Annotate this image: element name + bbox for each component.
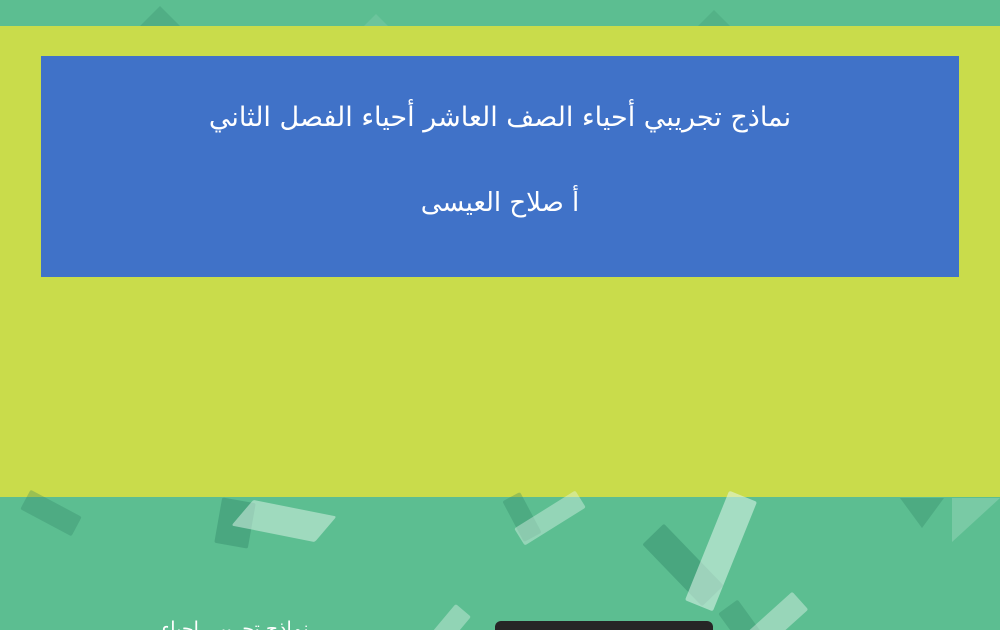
cutoff-caption-label: نماذج تجريبي أحياء xyxy=(161,620,308,630)
slide-subtitle-author: أ صلاح العيسى xyxy=(421,187,580,221)
cutoff-caption-text: نماذج تجريبي أحياء xyxy=(0,620,470,630)
slide-content-area: نماذج تجريبي أحياء الصف العاشر أحياء الف… xyxy=(0,26,1000,497)
slide-screenshot: نماذج تجريبي أحياء الصف العاشر أحياء الف… xyxy=(0,0,1000,630)
bottom-green-band xyxy=(0,497,1000,630)
top-green-band xyxy=(0,0,1000,26)
slide-title: نماذج تجريبي أحياء الصف العاشر أحياء الف… xyxy=(209,100,791,135)
triangle-decoration-icon xyxy=(356,14,396,26)
video-player-control-bar[interactable] xyxy=(495,621,713,630)
triangle-decoration-icon xyxy=(688,10,740,26)
triangle-decoration-icon xyxy=(126,6,194,26)
title-panel: نماذج تجريبي أحياء الصف العاشر أحياء الف… xyxy=(41,56,959,277)
